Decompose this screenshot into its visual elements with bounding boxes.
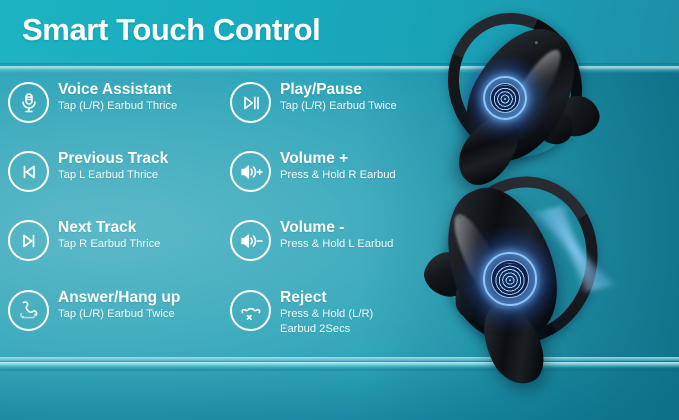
feature-title: Play/Pause [280,81,397,98]
earbud-lower-right [403,168,653,416]
earbud-mic-hole-upper-a [534,41,538,45]
microphone-icon [8,82,49,123]
feature-item-next-track[interactable]: Next Track Tap R Earbud Thrice [8,218,160,261]
feature-text: Play/Pause Tap (L/R) Earbud Twice [280,80,397,113]
feature-instruction: Tap L Earbud Thrice [58,168,168,182]
feature-title: Volume - [280,219,393,236]
feature-instruction: Tap (L/R) Earbud Thrice [58,99,177,113]
feature-item-answer-hang-up[interactable]: Answer/Hang up Tap (L/R) Earbud Twice [8,288,180,331]
feature-instruction-line2: Earbud 2Secs [280,322,373,336]
previous-track-icon [8,151,49,192]
feature-item-reject[interactable]: Reject Press & Hold (L/R) Earbud 2Secs [230,288,373,336]
feature-text: Voice Assistant Tap (L/R) Earbud Thrice [58,80,177,113]
volume-down-icon [230,220,271,261]
feature-text: Reject Press & Hold (L/R) Earbud 2Secs [280,288,373,336]
earbud-upper-right [427,4,657,194]
phone-answer-icon [8,290,49,331]
feature-title: Volume + [280,150,396,167]
feature-item-play-pause[interactable]: Play/Pause Tap (L/R) Earbud Twice [230,80,397,123]
feature-instruction: Press & Hold R Earbud [280,168,396,182]
feature-instruction: Press & Hold (L/R) [280,307,373,321]
feature-title: Reject [280,289,373,306]
feature-text: Answer/Hang up Tap (L/R) Earbud Twice [58,288,180,321]
feature-instruction: Tap (L/R) Earbud Twice [280,99,397,113]
feature-instruction: Press & Hold L Earbud [280,237,393,251]
promo-banner: Smart Touch Control Voice Assistant [0,0,679,420]
feature-item-volume-up[interactable]: Volume + Press & Hold R Earbud [230,149,396,192]
touch-sensor-upper[interactable] [481,74,529,122]
feature-title: Next Track [58,219,160,236]
feature-title: Answer/Hang up [58,289,180,306]
page-title: Smart Touch Control [22,12,320,48]
feature-text: Volume - Press & Hold L Earbud [280,218,393,251]
touch-sensor-lower[interactable] [481,250,539,308]
feature-item-previous-track[interactable]: Previous Track Tap L Earbud Thrice [8,149,168,192]
next-track-icon [8,220,49,261]
feature-text: Next Track Tap R Earbud Thrice [58,218,160,251]
feature-item-voice-assistant[interactable]: Voice Assistant Tap (L/R) Earbud Thrice [8,80,177,123]
volume-up-icon [230,151,271,192]
feature-title: Previous Track [58,150,168,167]
feature-text: Volume + Press & Hold R Earbud [280,149,396,182]
play-pause-icon [230,82,271,123]
feature-instruction: Tap (L/R) Earbud Twice [58,307,180,321]
feature-item-volume-down[interactable]: Volume - Press & Hold L Earbud [230,218,393,261]
feature-title: Voice Assistant [58,81,177,98]
phone-reject-icon [230,290,271,331]
product-earbuds-image [419,0,679,420]
feature-instruction: Tap R Earbud Thrice [58,237,160,251]
feature-text: Previous Track Tap L Earbud Thrice [58,149,168,182]
